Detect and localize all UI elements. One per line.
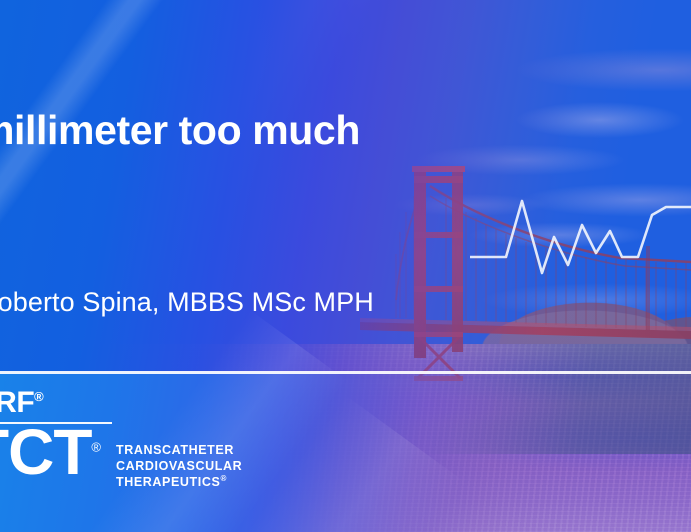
crf-text: CRF [0,386,34,419]
tagline-line-3: THERAPEUTICS [116,475,220,489]
tagline-registered-mark: ® [220,474,227,483]
tct-registered-mark: ® [91,440,100,455]
tagline-line-3-wrapper: THERAPEUTICS® [116,474,242,490]
tct-text: TCT [0,416,91,488]
crf-registered-mark: ® [34,389,43,404]
tct-wordmark: TCT® [0,420,100,484]
crf-wordmark: CRF® [0,386,43,420]
tct-tagline: TRANSCATHETER CARDIOVASCULAR THERAPEUTIC… [116,442,242,490]
horizontal-divider [0,371,691,374]
tagline-line-1: TRANSCATHETER [116,442,242,458]
presentation-slide: millimeter too much Roberto Spina, MBBS … [0,0,691,532]
tct-logo-lockup: CRF® TCT® TRANSCATHETER CARDIOVASCULAR T… [0,386,274,506]
ecg-heartbeat-icon [470,195,691,290]
slide-title: millimeter too much [0,108,360,152]
presenter-name: Roberto Spina, MBBS MSc MPH [0,287,374,318]
tagline-line-2: CARDIOVASCULAR [116,458,242,474]
